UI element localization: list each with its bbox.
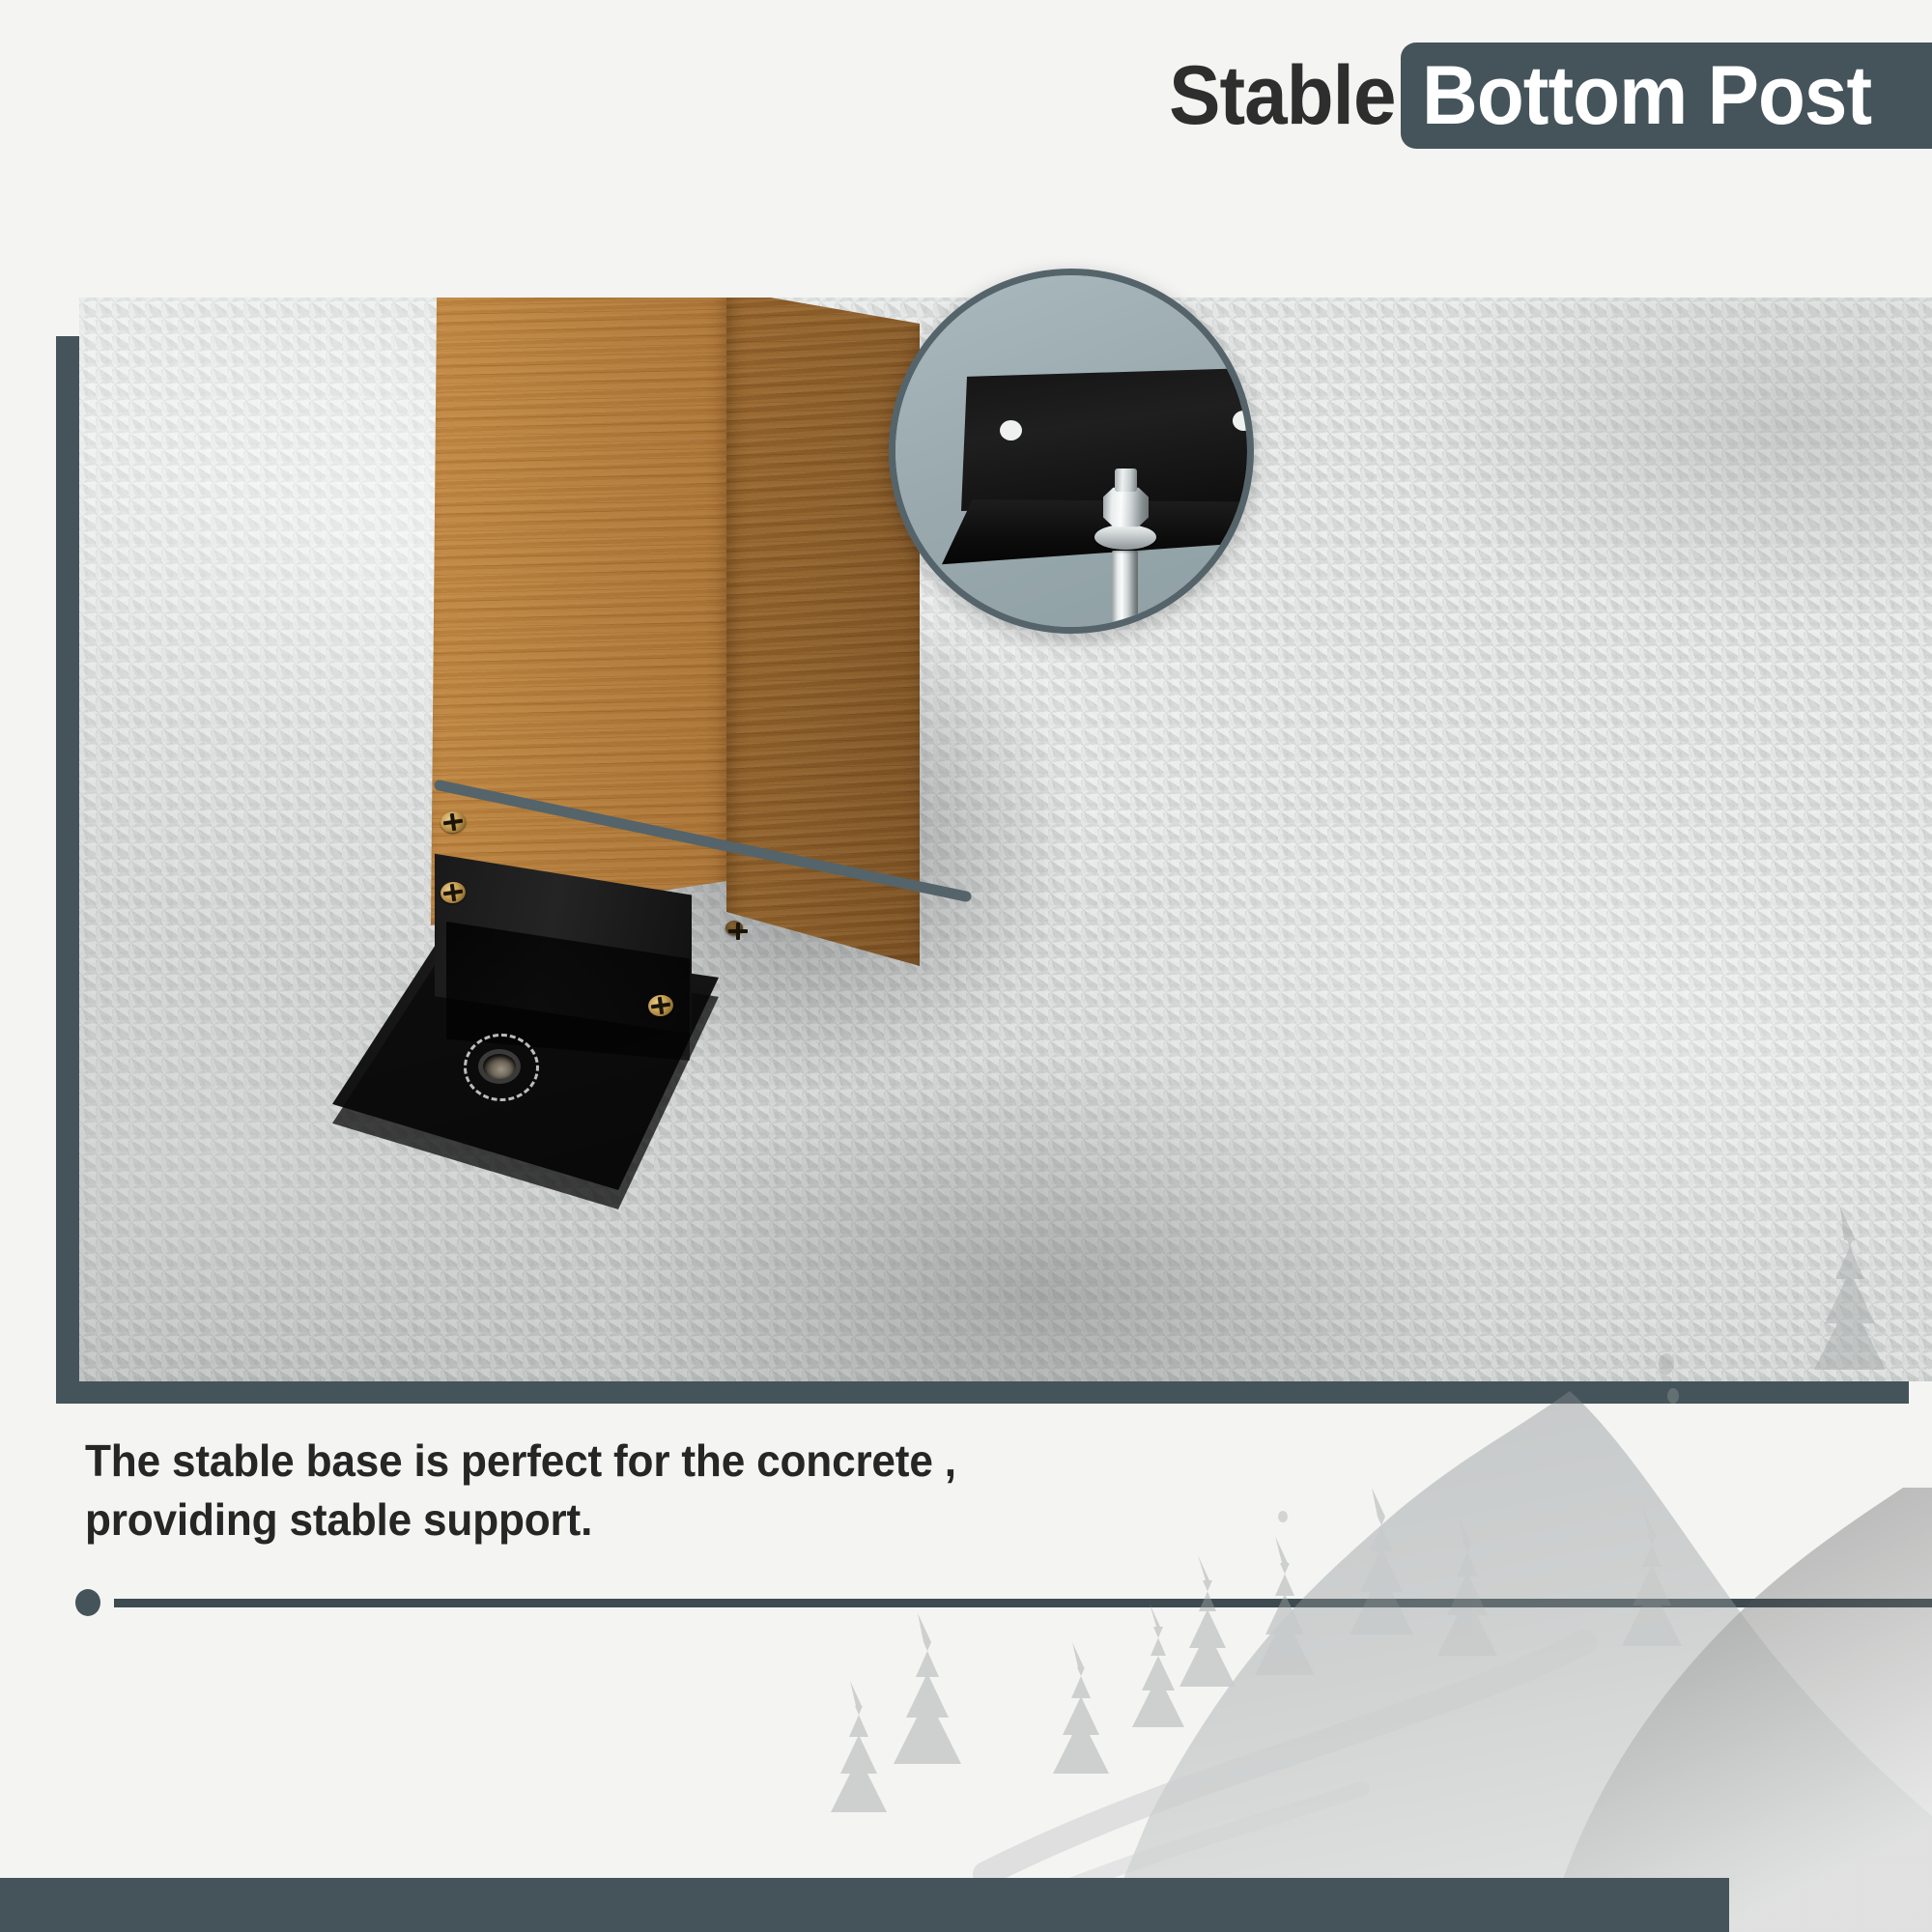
expansion-bolt-washer — [1094, 525, 1156, 550]
wood-grain-right — [726, 298, 920, 966]
caption-line-2: providing stable support. — [85, 1491, 956, 1549]
expansion-bolt-hex-nut — [1103, 486, 1149, 528]
bottom-accent-bar — [0, 1878, 1729, 1932]
wood-grain-left — [431, 298, 728, 925]
phillips-screw-icon — [725, 921, 743, 935]
dashed-highlight-ring-icon — [464, 1034, 539, 1101]
caption-line-1: The stable base is perfect for the concr… — [85, 1432, 956, 1491]
expansion-bolt-shaft — [1112, 551, 1138, 634]
title-highlight-text: Bottom Post — [1422, 43, 1871, 149]
title-plain-text: Stable — [1169, 43, 1401, 149]
post-face-right — [726, 298, 920, 966]
bracket-screw-hole — [1000, 420, 1022, 440]
page-title: Stable Bottom Post — [0, 43, 1932, 149]
expansion-bolt-tip — [1115, 469, 1137, 492]
title-badge: Bottom Post — [1401, 43, 1932, 149]
caption-block: The stable base is perfect for the concr… — [85, 1432, 956, 1549]
caption-divider-rule — [114, 1599, 1932, 1607]
post-face-left — [431, 298, 728, 925]
callout-bracket-vertical — [961, 368, 1251, 511]
magnified-detail-callout — [889, 269, 1254, 634]
caption-bullet-dot — [75, 1589, 100, 1616]
